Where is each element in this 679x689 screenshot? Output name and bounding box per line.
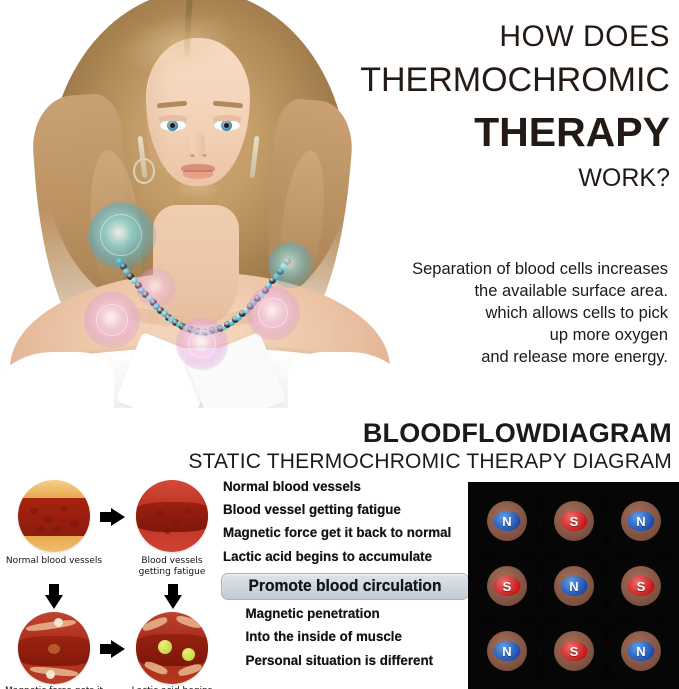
- list-item: Magnetic force get it back to normal: [223, 526, 454, 540]
- magnet-cell: N: [471, 485, 543, 557]
- nostril-left: [190, 154, 195, 157]
- description-line-1: Separation of blood cells increases: [352, 259, 668, 281]
- list-item: Magnetic penetration: [223, 607, 454, 621]
- chin: [178, 182, 218, 198]
- energy-swirl-cyan: [268, 242, 314, 288]
- highlighted-benefit: Promote blood circulation: [221, 573, 469, 600]
- magnet-cell: N: [538, 550, 610, 622]
- cycle-caption-2-line2: getting fatigue: [117, 567, 227, 577]
- energy-swirl-ring: [258, 298, 288, 328]
- magnet-pole-label: N: [494, 641, 521, 661]
- description-line-5: and release more energy.: [352, 347, 668, 369]
- diagram-title: BLOODFLOWDIAGRAM: [0, 418, 672, 449]
- headline-line-3: THERAPY: [330, 105, 670, 160]
- hero-section: HOW DOES THERMOCHROMIC THERAPY WORK? Sep…: [0, 0, 679, 408]
- sleeve-left: [0, 352, 114, 408]
- magnet-cell: S: [538, 485, 610, 557]
- description-line-2: the available surface area.: [352, 281, 668, 303]
- headline-line-2: THERMOCHROMIC: [330, 56, 670, 105]
- eyelid-right: [213, 115, 241, 121]
- magnet-pole-label: N: [561, 576, 588, 596]
- list-item: Lactic acid begins to accumulate: [223, 550, 454, 564]
- vessel-cell-magnetic: [18, 612, 90, 684]
- energy-swirl-pink: [136, 268, 176, 308]
- vessel-cell-fatigue: [136, 480, 208, 552]
- mouth-line: [183, 170, 213, 172]
- magnet-pole-label: S: [628, 576, 655, 596]
- hero-description: Separation of blood cells increases the …: [352, 259, 668, 369]
- magnet-cell: N: [605, 615, 677, 687]
- magnet-pole-label: N: [628, 641, 655, 661]
- magnet-pole-label: N: [628, 511, 655, 531]
- list-item: Into the inside of muscle: [223, 630, 454, 644]
- energy-swirl-ring: [96, 304, 128, 336]
- description-line-4: up more oxygen: [352, 325, 668, 347]
- earring-left-hoop: [133, 158, 155, 184]
- pupil-left: [170, 123, 175, 128]
- list-item: Blood vessel getting fatigue: [223, 503, 454, 517]
- magnet-pole-label: S: [494, 576, 521, 596]
- magnet-cell: N: [605, 485, 677, 557]
- vessel-cell-normal: [18, 480, 90, 552]
- vessel-cell-lactic: [136, 612, 208, 684]
- headline-line-1: HOW DOES: [330, 18, 670, 56]
- diagram-section: BLOODFLOWDIAGRAM STATIC THERMOCHROMIC TH…: [0, 408, 679, 689]
- magnet-cell: S: [538, 615, 610, 687]
- magnet-pole-label: S: [561, 641, 588, 661]
- energy-swirl-ring: [100, 214, 142, 256]
- diagram-subtitle: STATIC THERMOCHROMIC THERAPY DIAGRAM: [0, 450, 672, 474]
- therapy-steps-list: Normal blood vessels Blood vessel gettin…: [223, 480, 469, 677]
- magnet-cell: N: [471, 615, 543, 687]
- magnet-cell: S: [605, 550, 677, 622]
- list-item: Personal situation is different: [223, 654, 454, 668]
- nostril-right: [202, 154, 207, 157]
- pupil-right: [224, 123, 229, 128]
- energy-swirl-ring: [188, 330, 216, 358]
- list-item: Normal blood vessels: [223, 480, 454, 494]
- description-line-3: which allows cells to pick: [352, 303, 668, 325]
- cycle-caption-2-line1: Blood vessels: [117, 556, 227, 566]
- magnet-pole-label: S: [561, 511, 588, 531]
- eyelid-left: [159, 115, 187, 121]
- headline-line-4: WORK?: [330, 160, 670, 198]
- list-item-highlight-label: Promote blood circulation: [236, 578, 455, 594]
- magnet-cell: S: [471, 550, 543, 622]
- magnet-grid-diagram: N S N S N S N S: [468, 482, 679, 689]
- hero-headline: HOW DOES THERMOCHROMIC THERAPY WORK?: [330, 18, 670, 198]
- magnet-pole-label: N: [494, 511, 521, 531]
- blood-flow-cycle-diagram: Normal blood vessels Blood vessels getti…: [8, 480, 218, 685]
- cycle-caption-1: Normal blood vessels: [0, 556, 109, 566]
